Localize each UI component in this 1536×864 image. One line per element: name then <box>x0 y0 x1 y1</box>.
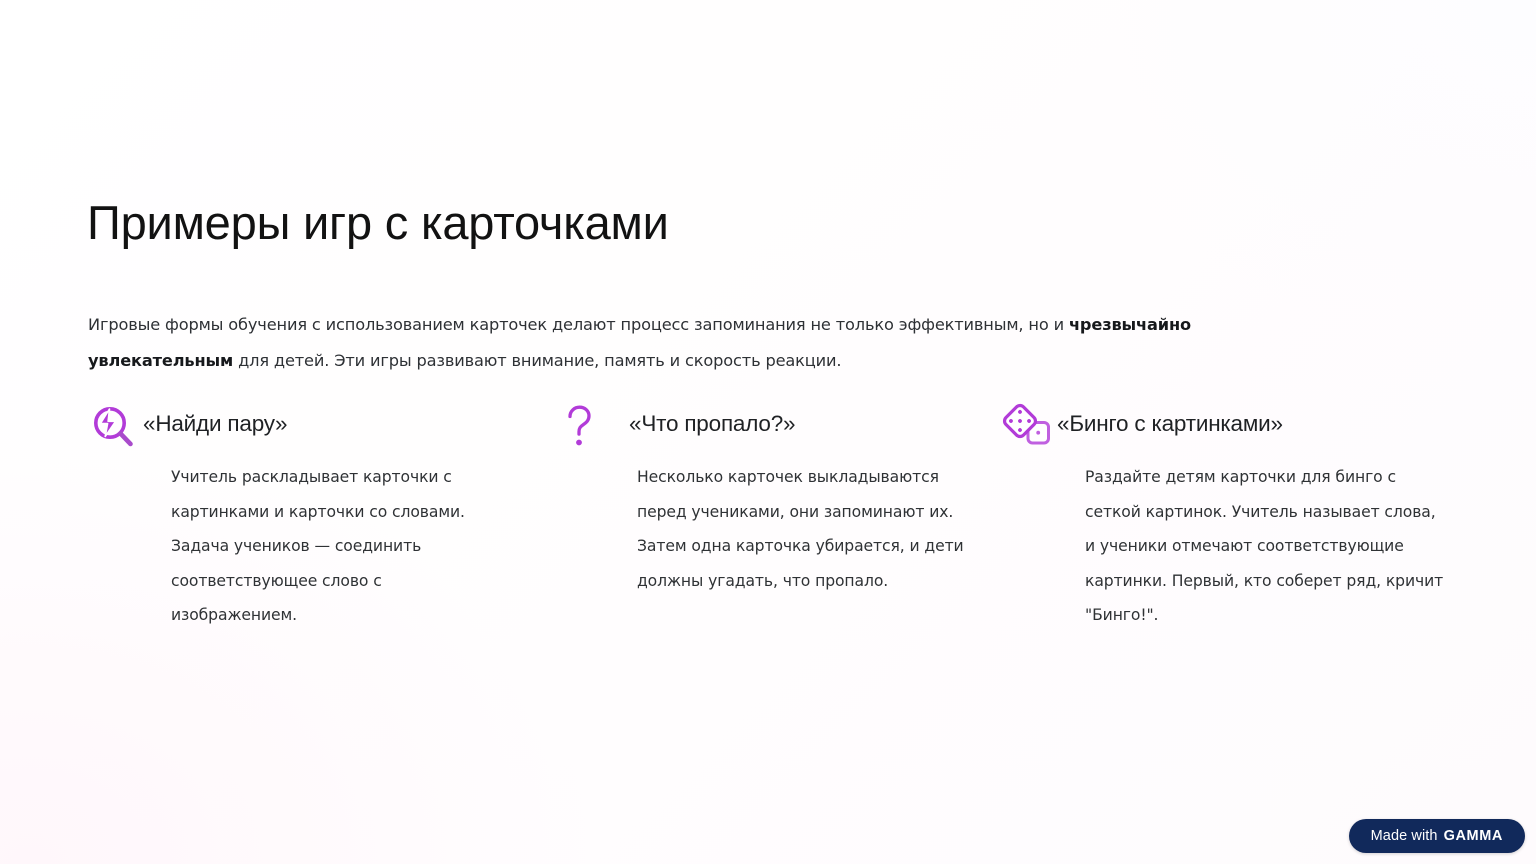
feature-header: «Найди пару» <box>87 398 505 460</box>
intro-text-part1: Игровые формы обучения с использованием … <box>88 315 1069 334</box>
feature-title: «Бинго с картинками» <box>1057 398 1283 437</box>
intro-paragraph: Игровые формы обучения с использованием … <box>88 307 1320 379</box>
question-mark-icon <box>553 398 617 452</box>
feature-column-picture-bingo: «Бинго с картинками» Раздайте детям карт… <box>995 398 1449 633</box>
feature-body: Раздайте детям карточки для бинго с сетк… <box>1001 460 1445 633</box>
feature-title: «Что пропало?» <box>617 398 795 437</box>
gamma-brand-label: GAMMA <box>1444 828 1503 844</box>
feature-columns: «Найди пару» Учитель раскладывает карточ… <box>87 398 1449 633</box>
feature-column-what-is-missing: «Что пропало?» Несколько карточек выклад… <box>541 398 995 633</box>
slide-canvas: Примеры игр с карточками Игровые формы о… <box>0 0 1536 864</box>
feature-header: «Что пропало?» <box>553 398 959 460</box>
feature-title: «Найди пару» <box>143 398 287 437</box>
intro-text-part2: для детей. Эти игры развивают внимание, … <box>233 351 841 370</box>
slide-content: Примеры игр с карточками Игровые формы о… <box>87 0 1449 864</box>
badge-prefix-label: Made with <box>1371 828 1438 844</box>
feature-header: «Бинго с картинками» <box>1001 398 1413 460</box>
feature-body: Несколько карточек выкладываются перед у… <box>553 460 987 598</box>
magnifier-bolt-icon <box>87 398 143 452</box>
feature-column-find-a-pair: «Найди пару» Учитель раскладывает карточ… <box>87 398 541 633</box>
dice-icon <box>1001 398 1057 452</box>
feature-body: Учитель раскладывает карточки с картинка… <box>87 460 487 633</box>
page-title: Примеры игр с карточками <box>87 196 669 250</box>
made-with-gamma-badge[interactable]: Made with GAMMA <box>1349 819 1525 853</box>
